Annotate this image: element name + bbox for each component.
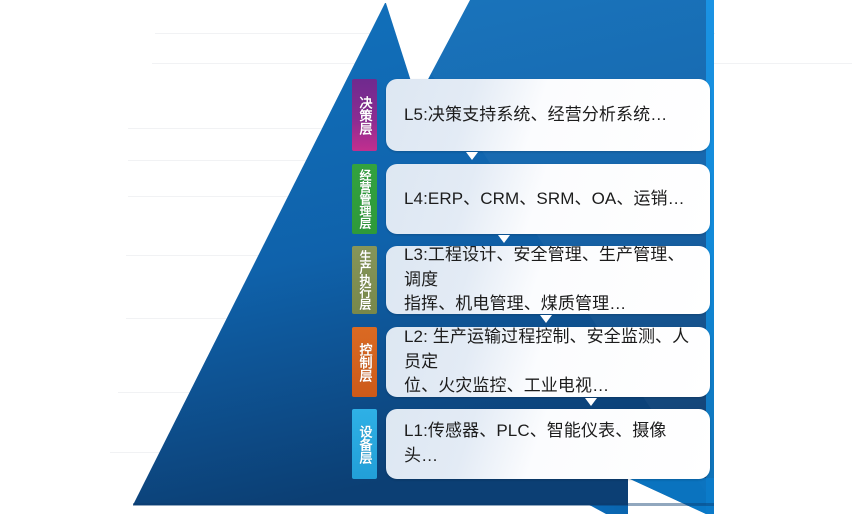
flow-arrow-l4-l3 [498,235,510,243]
level-card-l3[interactable]: L3:工程设计、安全管理、生产管理、调度 指挥、机电管理、煤质管理… [386,246,710,314]
level-text-l1: L1:传感器、PLC、智能仪表、摄像头… [386,419,710,468]
level-rows: 决策层 L5:决策支持系统、经营分析系统… 经营管理层 L4:ERP、CRM、S… [0,0,856,514]
level-row-l5: 决策层 L5:决策支持系统、经营分析系统… [352,79,710,151]
level-row-l3: 生产执行层 L3:工程设计、安全管理、生产管理、调度 指挥、机电管理、煤质管理… [352,246,710,314]
level-text-l4: L4:ERP、CRM、SRM、OA、运销… [386,187,699,212]
level-text-l3: L3:工程设计、安全管理、生产管理、调度 指挥、机电管理、煤质管理… [386,246,710,314]
level-text-l5: L5:决策支持系统、经营分析系统… [386,103,681,128]
level-chip-l1: 设备层 [352,409,377,479]
level-card-l2[interactable]: L2: 生产运输过程控制、安全监测、人员定 位、火灾监控、工业电视… [386,327,710,397]
level-text-l2: L2: 生产运输过程控制、安全监测、人员定 位、火灾监控、工业电视… [386,327,710,397]
level-chip-l2: 控制层 [352,327,377,397]
level-row-l2: 控制层 L2: 生产运输过程控制、安全监测、人员定 位、火灾监控、工业电视… [352,327,710,397]
flow-arrow-l3-l2 [540,315,552,323]
level-card-l1[interactable]: L1:传感器、PLC、智能仪表、摄像头… [386,409,710,479]
level-row-l4: 经营管理层 L4:ERP、CRM、SRM、OA、运销… [352,164,710,234]
level-chip-l3: 生产执行层 [352,246,377,314]
diagram-canvas: 决策层 L5:决策支持系统、经营分析系统… 经营管理层 L4:ERP、CRM、S… [0,0,856,514]
flow-arrow-l2-l1 [585,398,597,406]
level-card-l5[interactable]: L5:决策支持系统、经营分析系统… [386,79,710,151]
level-chip-l4: 经营管理层 [352,164,377,234]
level-card-l4[interactable]: L4:ERP、CRM、SRM、OA、运销… [386,164,710,234]
flow-arrow-l5-l4 [466,152,478,160]
level-row-l1: 设备层 L1:传感器、PLC、智能仪表、摄像头… [352,409,710,479]
level-chip-l5: 决策层 [352,79,377,151]
